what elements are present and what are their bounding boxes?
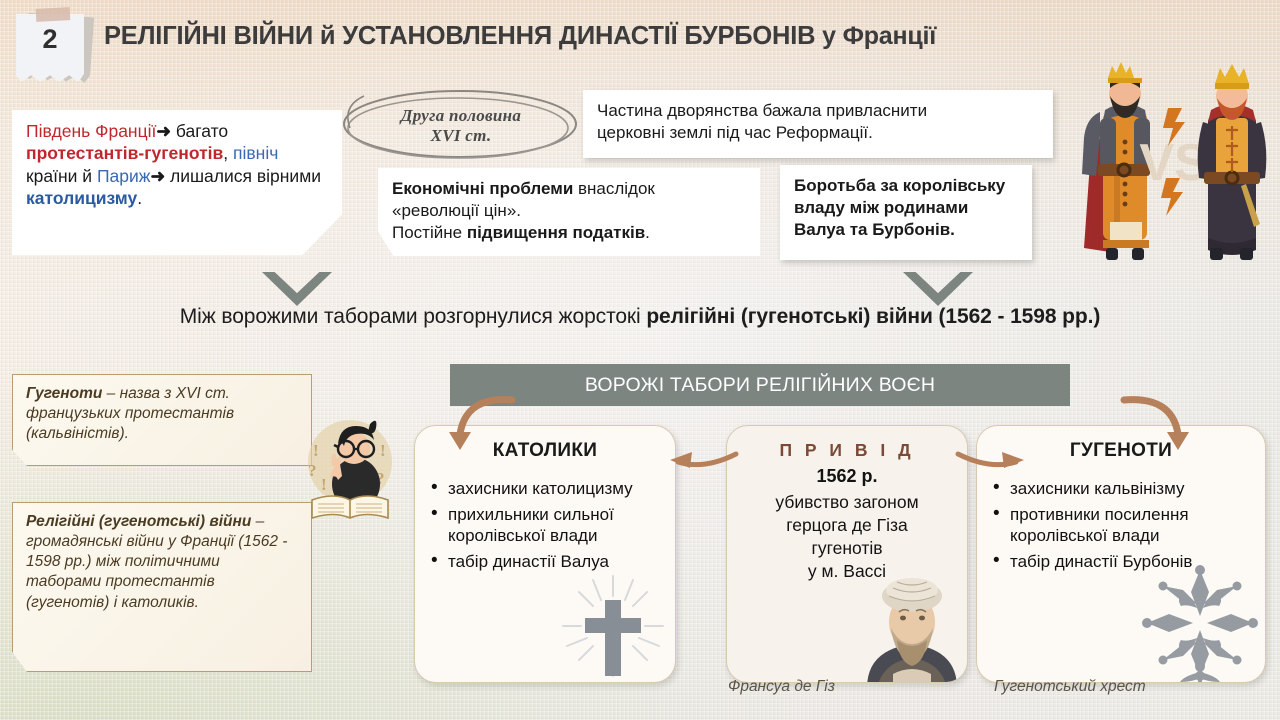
tape-icon	[36, 7, 71, 22]
king-bourbon-figure	[1198, 64, 1267, 260]
catholicism-label: католицизму	[26, 188, 137, 208]
power-line-3: Валуа та Бурбонів.	[794, 219, 1018, 241]
protestants-huguenots-label: протестантів-гугенотів	[26, 143, 223, 163]
curved-arrow-to-huguenots-icon	[1110, 392, 1200, 460]
arrow-left-icon	[660, 440, 742, 480]
south-label: Південь Франції	[26, 121, 156, 141]
slide-number-note: 2	[12, 8, 96, 86]
svg-text:!: !	[321, 475, 327, 494]
teacher-illustration: !? !? !	[288, 404, 412, 528]
definition-term-1: Гугеноти	[26, 385, 102, 402]
huguenot-cross-icon	[1139, 562, 1261, 683]
svg-text:?: ?	[308, 461, 317, 480]
card-pretext: П Р И В І Д 1562 р. убивство загоном гер…	[726, 425, 968, 683]
north-label: північ	[233, 143, 278, 163]
catholics-list: захисники католицизму прихильники сильно…	[431, 478, 665, 572]
list-item: противники посилення королівської влади	[993, 504, 1255, 546]
curved-arrow-to-catholics-icon	[440, 392, 530, 460]
definition-term-2: Релігійні (гугенотські) війни	[26, 513, 251, 530]
list-item: захисники кальвінізму	[993, 478, 1255, 499]
list-item: прихильники сильної королівської влади	[431, 504, 665, 546]
pretext-year: 1562 р.	[727, 465, 967, 488]
christian-cross-icon	[557, 570, 669, 682]
power-line-1: Боротьба за королівську	[794, 175, 1018, 197]
economy-line-1: Економічні проблеми внаслідок «революції…	[392, 178, 746, 222]
camps-header-label: ВОРОЖІ ТАБОРИ РЕЛІГІЙНИХ ВОЄН	[585, 374, 935, 397]
camps-header-bar: ВОРОЖІ ТАБОРИ РЕЛІГІЙНИХ ВОЄН	[450, 364, 1070, 406]
cause-box-economy: Економічні проблеми внаслідок «революції…	[378, 168, 760, 256]
economy-line-2: Постійне підвищення податків.	[392, 222, 746, 244]
tax-increase-label: підвищення податків	[467, 223, 645, 242]
page-title: РЕЛІГІЙНІ ВІЙНИ й УСТАНОВЛЕННЯ ДИНАСТІЇ …	[104, 22, 1104, 51]
arrow-glyph-2: ➜	[150, 166, 165, 186]
caption-guise: Франсуа де Гіз	[728, 678, 835, 696]
power-line-2: владу між родинами	[794, 197, 1018, 219]
nobility-line-2: церковні землі під час Реформації.	[597, 122, 1039, 144]
svg-text:!: !	[313, 441, 319, 460]
wars-summary-banner: Між ворожими таборами розгорнулися жорст…	[0, 305, 1280, 329]
definition-religious-wars: Релігійні (гугенотські) війни – громадян…	[12, 502, 312, 672]
paris-label: Париж	[97, 166, 151, 186]
card-pretext-title: П Р И В І Д	[727, 426, 967, 461]
south-text-1: багато	[171, 121, 228, 141]
huguenots-list: захисники кальвінізму противники посилен…	[993, 478, 1255, 572]
south-text-5: .	[137, 188, 142, 208]
francois-de-guise-portrait	[853, 556, 968, 683]
cause-box-power-struggle: Боротьба за королівську владу між родина…	[780, 165, 1032, 260]
economy-text-3: .	[645, 223, 650, 242]
pretext-line: убивство загоном	[727, 491, 967, 514]
title-main: РЕЛІГІЙНІ ВІЙНИ й УСТАНОВЛЕННЯ ДИНАСТІЇ …	[104, 22, 815, 50]
economy-bold-label: Економічні проблеми	[392, 179, 573, 198]
south-text-4: лишалися вірними	[165, 166, 321, 186]
slide-number: 2	[16, 24, 84, 55]
period-line-1: Друга половина	[401, 106, 521, 126]
period-line-2: XVI ст.	[431, 126, 492, 146]
caption-huguenot-cross: Гугенотський хрест	[994, 678, 1146, 696]
south-text-2: ,	[223, 143, 233, 163]
period-annotation: Друга половина XVI ст.	[336, 84, 586, 168]
arrow-right-icon	[952, 440, 1034, 480]
definition-huguenots: Гугеноти – назва з XVI ст. французьких п…	[12, 374, 312, 466]
card-catholics: КАТОЛИКИ захисники католицизму прихильни…	[414, 425, 676, 683]
banner-text-bold: релігійні (гугенотські) війни (1562 - 15…	[646, 305, 1100, 328]
economy-text-2: Постійне	[392, 223, 467, 242]
pretext-line: герцога де Гіза	[727, 514, 967, 537]
banner-text-plain: Між ворожими таборами розгорнулися жорст…	[180, 305, 647, 328]
title-tail: у Франції	[815, 22, 936, 50]
cause-box-south-france: Південь Франції➜ багато протестантів-гуг…	[12, 110, 342, 255]
south-text-3: країни й	[26, 166, 97, 186]
list-item: захисники католицизму	[431, 478, 665, 499]
svg-text:!: !	[380, 441, 386, 460]
open-book-icon	[312, 496, 388, 518]
arrow-glyph-1: ➜	[156, 121, 171, 141]
kings-versus-illustration: VS	[1070, 52, 1280, 267]
cause-box-nobility: Частина дворянства бажала привласнити це…	[583, 90, 1053, 158]
nobility-line-1: Частина дворянства бажала привласнити	[597, 100, 1039, 122]
